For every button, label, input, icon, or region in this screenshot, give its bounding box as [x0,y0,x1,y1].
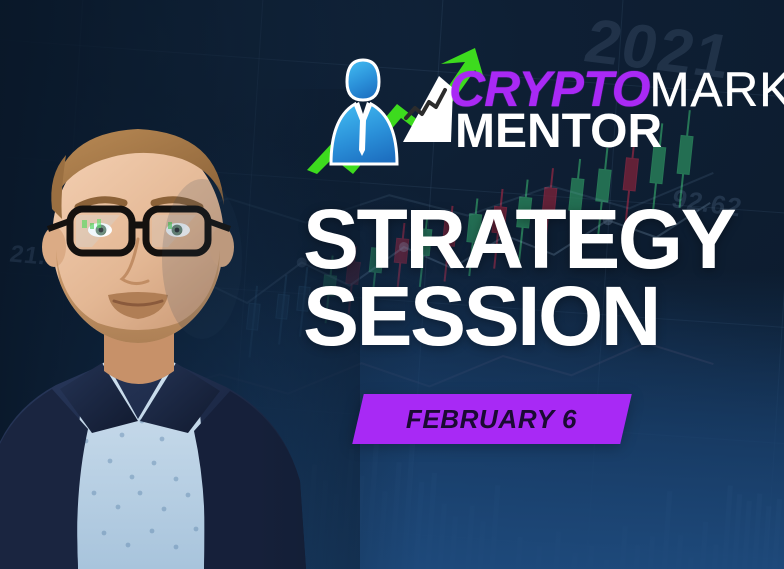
date-badge: FEBRUARY 6 [352,394,632,444]
headline-line-2: SESSION [303,281,781,352]
brand-logo[interactable]: CRYPTOMARKET MENTOR [305,46,775,174]
page-title: STRATEGY SESSION [303,204,781,351]
logo-row-secondary: MENTOR [455,108,662,156]
logo-word-market: MARKET [650,64,784,117]
logo-wordmark: CRYPTOMARKET MENTOR [449,64,779,174]
date-badge-label: FEBRUARY 6 [406,404,577,435]
promo-banner: 2021 92.62 21. [0,0,784,569]
headline-line-1: STRATEGY [303,204,781,275]
presenter-portrait [0,89,328,569]
logo-word-mentor: MENTOR [455,105,662,158]
